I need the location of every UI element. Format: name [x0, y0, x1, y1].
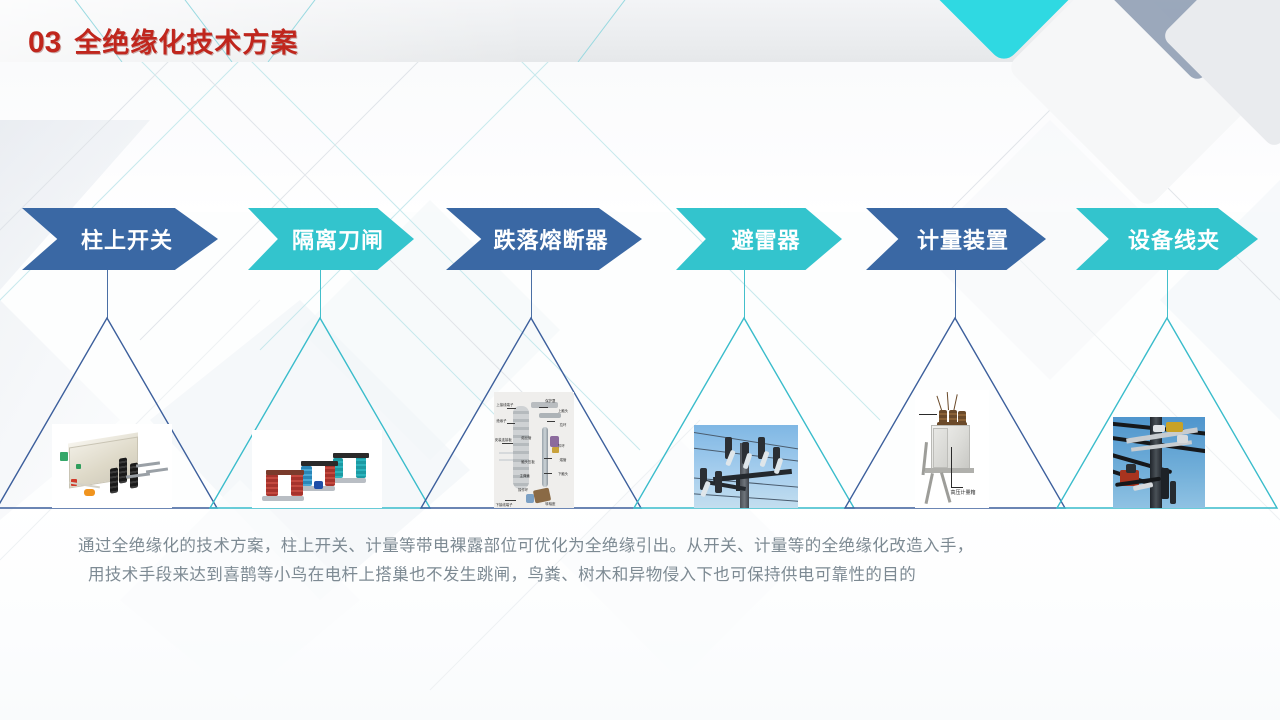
connector-stem-2 [320, 270, 321, 318]
fuse-label-6: 保护罩 [545, 398, 555, 403]
chevron-label-3: 跌落熔断器 [493, 223, 608, 255]
fuse-label-2: 绝缘子 [496, 418, 506, 423]
body-paragraph-line-2: 用技术手段来达到喜鹊等小鸟在电杆上搭巢也不发生跳闸，鸟粪、树木和异物侵入下也可保… [78, 561, 1208, 590]
fuse-label-4: 熔丝管 [521, 435, 531, 440]
chevron-banner-5[interactable]: 计量装置 [866, 208, 1046, 270]
fuse-label-10: 熔管 [560, 457, 567, 462]
pole-mounted-switch-photo [52, 424, 172, 508]
fuse-label-11: 下触头 [558, 471, 568, 476]
decorative-slab-grey [1091, 0, 1275, 83]
chevron-banner-1[interactable]: 柱上开关 [22, 208, 218, 270]
decorative-rhombus-cyan [921, 0, 1088, 64]
body-paragraph: 通过全绝缘化的技术方案，柱上开关、计量等带电裸露部位可优化为全绝缘引出。从开关、… [78, 532, 1208, 590]
chevron-banner-4[interactable]: 避雷器 [676, 208, 842, 270]
page-title-text: 全绝缘化技术方案 [74, 21, 298, 60]
decorative-slab-white [1006, 0, 1253, 209]
background-decoration-layer [0, 0, 1280, 720]
chevron-label-4: 避雷器 [731, 223, 800, 255]
fuse-label-12: 转轴座 [545, 501, 555, 506]
fuse-label-14: 主弹簧 [520, 473, 530, 478]
equipment-clamp-photo [1113, 417, 1205, 508]
triangle-outline-group [0, 0, 1280, 720]
page-title: 03 全绝缘化技术方案 [28, 21, 298, 60]
page-title-number: 03 [28, 26, 61, 60]
chevron-label-6: 设备线夹 [1128, 223, 1220, 255]
chevron-label-5: 计量装置 [917, 223, 1009, 255]
hv-metering-box-photo: 高压计量箱 [915, 390, 989, 508]
connector-stem-6 [1167, 270, 1168, 318]
chevron-banner-2[interactable]: 隔离刀闸 [248, 208, 414, 270]
fuse-label-1: 上接线端子 [496, 402, 513, 407]
background-diagonal-shapes [0, 0, 1280, 720]
fuse-label-8: 拉环 [560, 422, 567, 427]
decorative-slab-grey-2 [1161, 0, 1280, 149]
fuse-label-15: 触头压板 [521, 459, 535, 464]
chevron-banner-3[interactable]: 跌落熔断器 [446, 208, 642, 270]
fuse-label-13: 操作环 [518, 487, 528, 492]
fuse-label-7: 上触头 [558, 408, 568, 413]
drop-out-fuse-cutout-photo: 上接线端子 绝缘子 安装连接板 熔丝管 下接线端子 保护罩 上触头 拉环 扣环 … [494, 392, 574, 508]
fuse-label-5: 下接线端子 [496, 502, 513, 507]
connector-stem-4 [744, 270, 745, 318]
fuse-label-9: 扣环 [558, 443, 565, 448]
surge-arrester-photo [694, 425, 798, 508]
chevron-label-1: 柱上开关 [81, 223, 173, 255]
background-band-upper [0, 62, 1280, 212]
body-paragraph-line-1: 通过全绝缘化的技术方案，柱上开关、计量等带电裸露部位可优化为全绝缘引出。从开关、… [78, 532, 1208, 561]
slide-canvas: 03 全绝缘化技术方案 柱上开关 隔离刀闸 跌落熔断器 避雷器 计量装置 设备线… [0, 0, 1280, 720]
connector-stem-3 [531, 270, 532, 318]
fuse-label-3: 安装连接板 [495, 437, 512, 442]
chevron-banner-6[interactable]: 设备线夹 [1076, 208, 1258, 270]
disconnect-switch-photo [252, 430, 382, 508]
connector-stem-1 [107, 270, 108, 318]
chevron-label-2: 隔离刀闸 [292, 223, 384, 255]
metering-box-caption: 高压计量箱 [951, 489, 976, 496]
connector-stem-5 [955, 270, 956, 318]
